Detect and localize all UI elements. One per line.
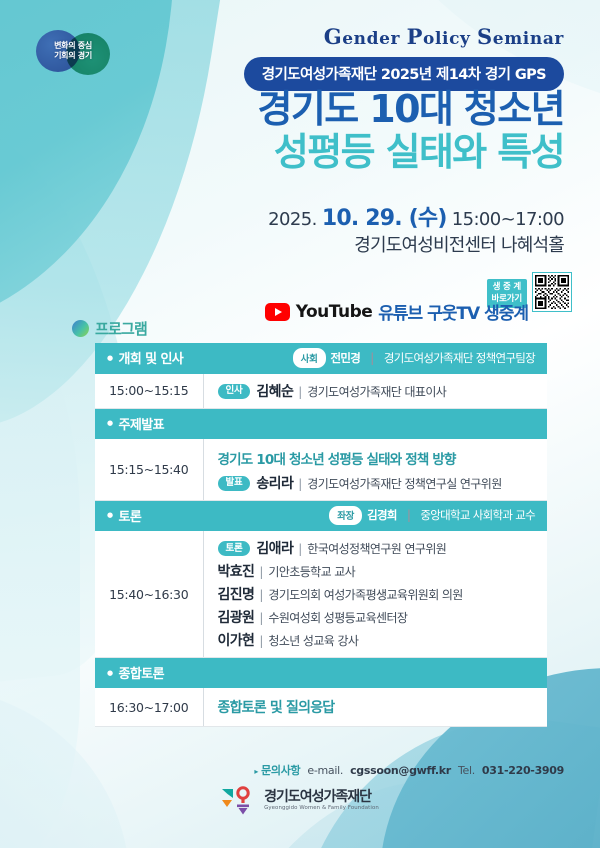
section-title: 개회 및 인사: [107, 348, 183, 367]
youtube-wordmark: YouTube: [296, 302, 373, 322]
qr-code-icon[interactable]: [532, 272, 572, 312]
person-line: 김광원|수원여성회 성평등교육센터장: [218, 609, 548, 625]
poster-header: Gender Policy Seminar 경기도여성가족재단 2025년 제1…: [244, 24, 564, 91]
row-body: 인사김혜순|경기도여성가족재단 대표이사: [203, 374, 547, 409]
row-time: 15:40~16:30: [95, 531, 203, 658]
email-prefix: e-mail.: [307, 764, 343, 777]
gps-cap-p: P: [407, 24, 423, 49]
role-badge: 토론: [218, 541, 251, 556]
qr-label-line-1: 생 중 계: [492, 282, 522, 293]
program-table: 개회 및 인사 사회 전민경 | 경기도여성가족재단 정책연구팀장 15:00~…: [95, 343, 547, 727]
person-affiliation: 경기도여성가족재단 대표이사: [307, 385, 446, 399]
person-name: 김진명: [218, 587, 255, 603]
title-line-1: 경기도 10대 청소년: [258, 88, 564, 131]
person-name: 김혜순: [256, 384, 293, 400]
contact-email[interactable]: cgssoon@gwff.kr: [350, 764, 451, 777]
section-title: 토론: [107, 506, 141, 525]
person-line: 토론김애라|한국여성정책연구원 연구위원: [218, 540, 548, 556]
bg-shape-left-lower: [0, 300, 80, 848]
person-line: 인사김혜순|경기도여성가족재단 대표이사: [218, 383, 548, 399]
contact-tel: 031-220-3909: [482, 764, 564, 777]
footer-org-ko: 경기도여성가족재단: [264, 790, 379, 805]
person-affiliation: 경기도의회 여성가족평생교육위원회 의원: [268, 588, 462, 602]
person-line: 김진명|경기도의회 여성가족평생교육위원회 의원: [218, 586, 548, 602]
title-line-2: 성평등 실태와 특성: [258, 131, 564, 174]
row-time: 15:00~15:15: [95, 374, 203, 409]
person-line: 박효진|기안초등학교 교사: [218, 563, 548, 579]
row-body: 종합토론 및 질의응답: [203, 688, 547, 727]
presentation-topic: 경기도 10대 청소년 성평등 실태와 정책 방향: [218, 448, 548, 468]
row-body: 토론김애라|한국여성정책연구원 연구위원 박효진|기안초등학교 교사 김진명|경…: [203, 531, 547, 658]
contact-label: 문의사항: [254, 762, 300, 778]
table-row: 15:40~16:30 토론김애라|한국여성정책연구원 연구위원 박효진|기안초…: [95, 531, 547, 658]
person-affiliation: 기안초등학교 교사: [268, 565, 355, 579]
table-row: 15:15~15:40 경기도 10대 청소년 성평등 실태와 정책 방향 발표…: [95, 439, 547, 501]
gps-word-policy: olicy: [423, 29, 477, 49]
footer-logo: 경기도여성가족재단 Gyeonggido Women & Family Foun…: [0, 786, 600, 816]
person-affiliation: 청소년 성교육 강사: [268, 634, 358, 648]
person-name: 이가현: [218, 633, 255, 649]
badge-line-1: 변화의 중심: [54, 41, 92, 51]
row-body: 경기도 10대 청소년 성평등 실태와 정책 방향 발표송리라|경기도여성가족재…: [203, 439, 547, 501]
section-title: 종합토론: [107, 663, 164, 682]
row-time: 15:15~15:40: [95, 439, 203, 501]
person-name: 김애라: [256, 541, 293, 557]
section-header-row: 종합토론: [95, 658, 547, 689]
person-line: 발표송리라|경기도여성가족재단 정책연구실 연구위원: [218, 475, 548, 491]
event-time: 15:00~17:00: [452, 209, 564, 230]
person-line: 이가현|청소년 성교육 강사: [218, 632, 548, 648]
gps-cap-s: S: [477, 24, 493, 49]
program-bullet-icon: [72, 320, 89, 337]
role-badge-host: 사회: [293, 348, 326, 368]
youtube-play-icon: [265, 303, 290, 321]
event-venue: 경기도여성비전센터 나혜석홀: [354, 231, 564, 257]
gps-word-gender: ender: [342, 29, 406, 49]
section-header-row: 토론 좌장 김경희 | 중앙대학교 사회학과 교수: [95, 500, 547, 531]
youtube-channel-label: 유튜브 구웃TV 생중계: [378, 299, 528, 324]
program-heading-label: 프로그램: [95, 318, 147, 339]
gyeonggi-brand-badge: 변화의 중심 기회의 경기: [36, 26, 110, 76]
person-name: 송리라: [256, 476, 293, 492]
seminar-english-title: Gender Policy Seminar: [244, 24, 564, 49]
gps-cap-g: G: [324, 24, 343, 49]
event-date: 10. 29. (수): [322, 206, 447, 231]
section-header-row: 주제발표: [95, 408, 547, 439]
host-name: 전민경: [331, 350, 361, 366]
section-title: 주제발표: [107, 414, 164, 433]
person-affiliation: 경기도여성가족재단 정책연구실 연구위원: [307, 477, 501, 491]
person-name: 박효진: [218, 564, 255, 580]
row-time: 16:30~17:00: [95, 688, 203, 727]
event-datetime: 2025. 10. 29. (수) 15:00~17:00: [268, 200, 564, 232]
seminar-poster: 변화의 중심 기회의 경기 Gender Policy Seminar 경기도여…: [0, 0, 600, 848]
role-badge: 발표: [218, 476, 251, 491]
program-heading: 프로그램: [72, 318, 147, 339]
chair-name: 김경희: [367, 507, 397, 523]
person-name: 김광원: [218, 610, 255, 626]
badge-line-2: 기회의 경기: [54, 51, 92, 61]
tel-prefix: Tel.: [458, 764, 475, 777]
section-host: 좌장 김경희 | 중앙대학교 사회학과 교수: [329, 506, 535, 526]
contact-info: 문의사항 e-mail. cgssoon@gwff.kr Tel. 031-22…: [254, 762, 564, 778]
role-badge: 인사: [218, 384, 251, 399]
footer-org-en: Gyeonggido Women & Family Foundation: [264, 806, 379, 812]
closing-session-label: 종합토론 및 질의응답: [218, 697, 548, 717]
person-affiliation: 수원여성회 성평등교육센터장: [268, 611, 407, 625]
table-row: 15:00~15:15 인사김혜순|경기도여성가족재단 대표이사: [95, 374, 547, 409]
section-host: 사회 전민경 | 경기도여성가족재단 정책연구팀장: [293, 348, 535, 368]
page-title: 경기도 10대 청소년 성평등 실태와 특성: [258, 88, 564, 175]
gwff-logo-icon: [221, 786, 255, 816]
person-affiliation: 한국여성정책연구원 연구위원: [307, 542, 446, 556]
host-affiliation: 경기도여성가족재단 정책연구팀장: [384, 350, 535, 366]
youtube-livestream-row[interactable]: YouTube 유튜브 구웃TV 생중계: [265, 299, 528, 324]
table-row: 16:30~17:00 종합토론 및 질의응답: [95, 688, 547, 727]
chair-affiliation: 중앙대학교 사회학과 교수: [420, 507, 535, 523]
event-year: 2025.: [268, 209, 317, 230]
seminar-edition-pill: 경기도여성가족재단 2025년 제14차 경기 GPS: [244, 57, 564, 91]
section-header-row: 개회 및 인사 사회 전민경 | 경기도여성가족재단 정책연구팀장: [95, 343, 547, 374]
gps-word-seminar: eminar: [493, 29, 564, 49]
role-badge-chair: 좌장: [329, 506, 362, 526]
